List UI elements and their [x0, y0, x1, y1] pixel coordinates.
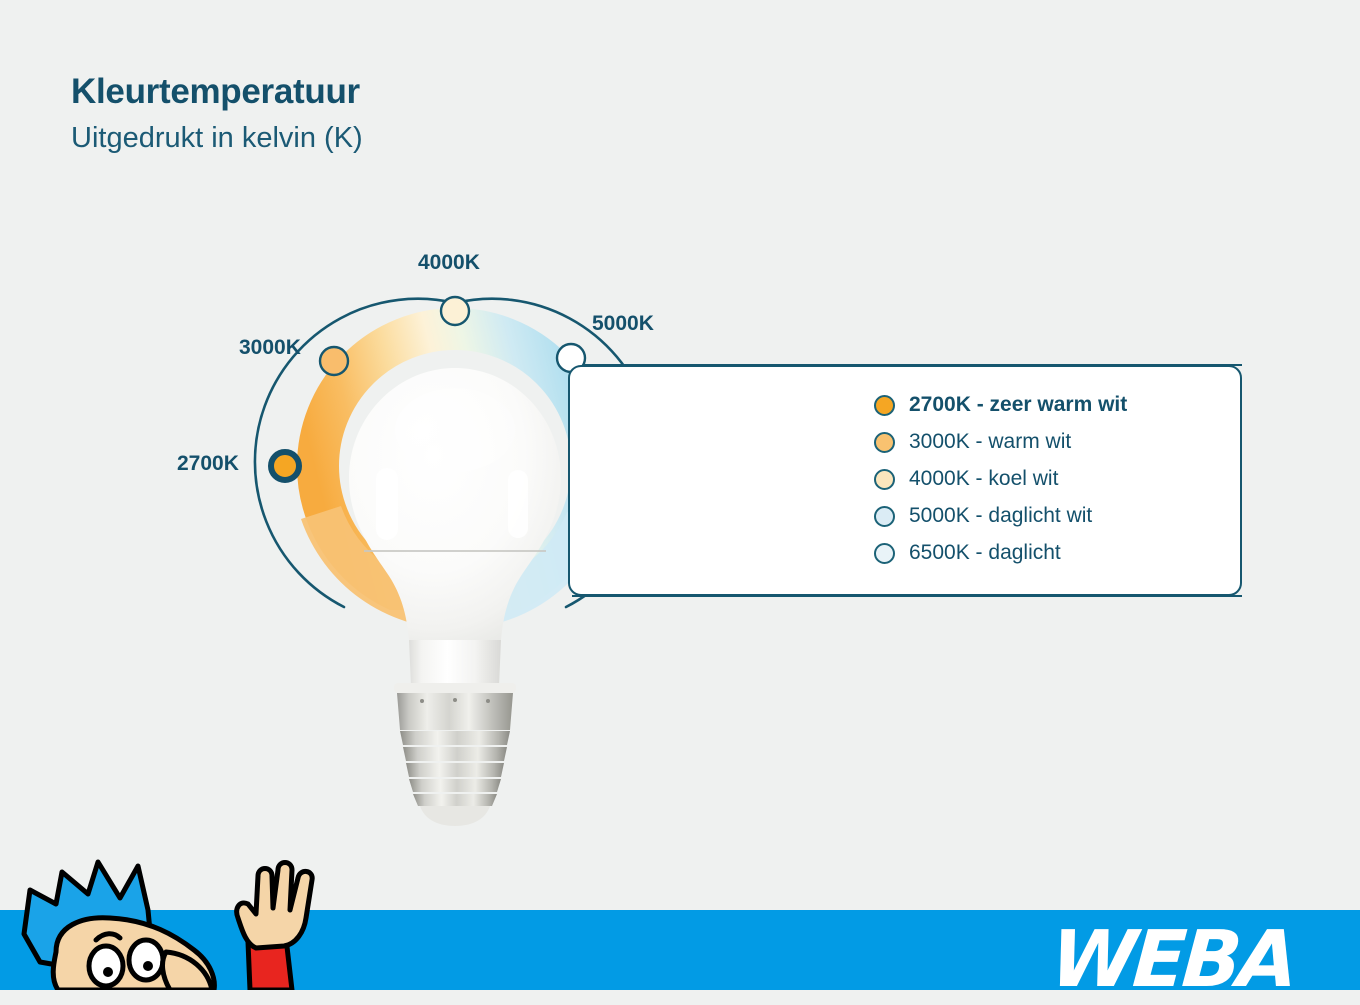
bulb-screw-threads: [400, 731, 510, 806]
mascot-pupil-left: [103, 967, 113, 977]
legend-item-3000k[interactable]: 3000K - warm wit: [874, 429, 1214, 455]
ring-label-4000k: 4000K: [418, 251, 480, 275]
bulb-contact-tip: [420, 806, 490, 826]
legend-item-5000k[interactable]: 5000K - daglicht wit: [874, 503, 1214, 529]
mascot-eye-right: [129, 940, 163, 980]
color-temperature-diagram: 2700K 3000K 4000K 5000K 6500K 2700K - ze…: [0, 0, 1360, 910]
marker-4000k[interactable]: [441, 297, 469, 325]
mascot-hand: [237, 863, 312, 949]
legend-list: 2700K - zeer warm wit 3000K - warm wit 4…: [874, 392, 1214, 566]
legend-dot-4000k: [874, 469, 895, 490]
marker-2700k-selected[interactable]: [271, 452, 299, 480]
ring-label-3000k: 3000K: [239, 336, 301, 360]
mascot-pupil-right: [143, 961, 153, 971]
mascot-character-icon: [0, 856, 330, 990]
legend-label-3000k: 3000K - warm wit: [909, 430, 1071, 454]
legend-dot-5000k: [874, 506, 895, 527]
legend-item-2700k[interactable]: 2700K - zeer warm wit: [874, 392, 1214, 418]
legend-dot-2700k: [874, 395, 895, 416]
legend-label-4000k: 4000K - koel wit: [909, 467, 1058, 491]
legend-label-5000k: 5000K - daglicht wit: [909, 504, 1092, 528]
weba-logo: WEBA: [1048, 921, 1297, 999]
legend-item-4000k[interactable]: 4000K - koel wit: [874, 466, 1214, 492]
ring-label-2700k: 2700K: [177, 452, 239, 476]
bulb-highlight-left: [376, 468, 398, 540]
legend-label-2700k: 2700K - zeer warm wit: [909, 393, 1127, 417]
ring-label-5000k: 5000K: [592, 312, 654, 336]
bulb-highlight-right: [508, 470, 528, 538]
bulb-neck: [409, 640, 501, 686]
bulb-collar: [394, 683, 516, 693]
legend-dot-6500k: [874, 543, 895, 564]
marker-3000k[interactable]: [320, 347, 348, 375]
bulb-glow: [395, 388, 515, 472]
legend-label-6500k: 6500K - daglicht: [909, 541, 1061, 565]
mascot-eye-left: [89, 946, 123, 986]
legend-item-6500k[interactable]: 6500K - daglicht: [874, 540, 1214, 566]
legend-dot-3000k: [874, 432, 895, 453]
